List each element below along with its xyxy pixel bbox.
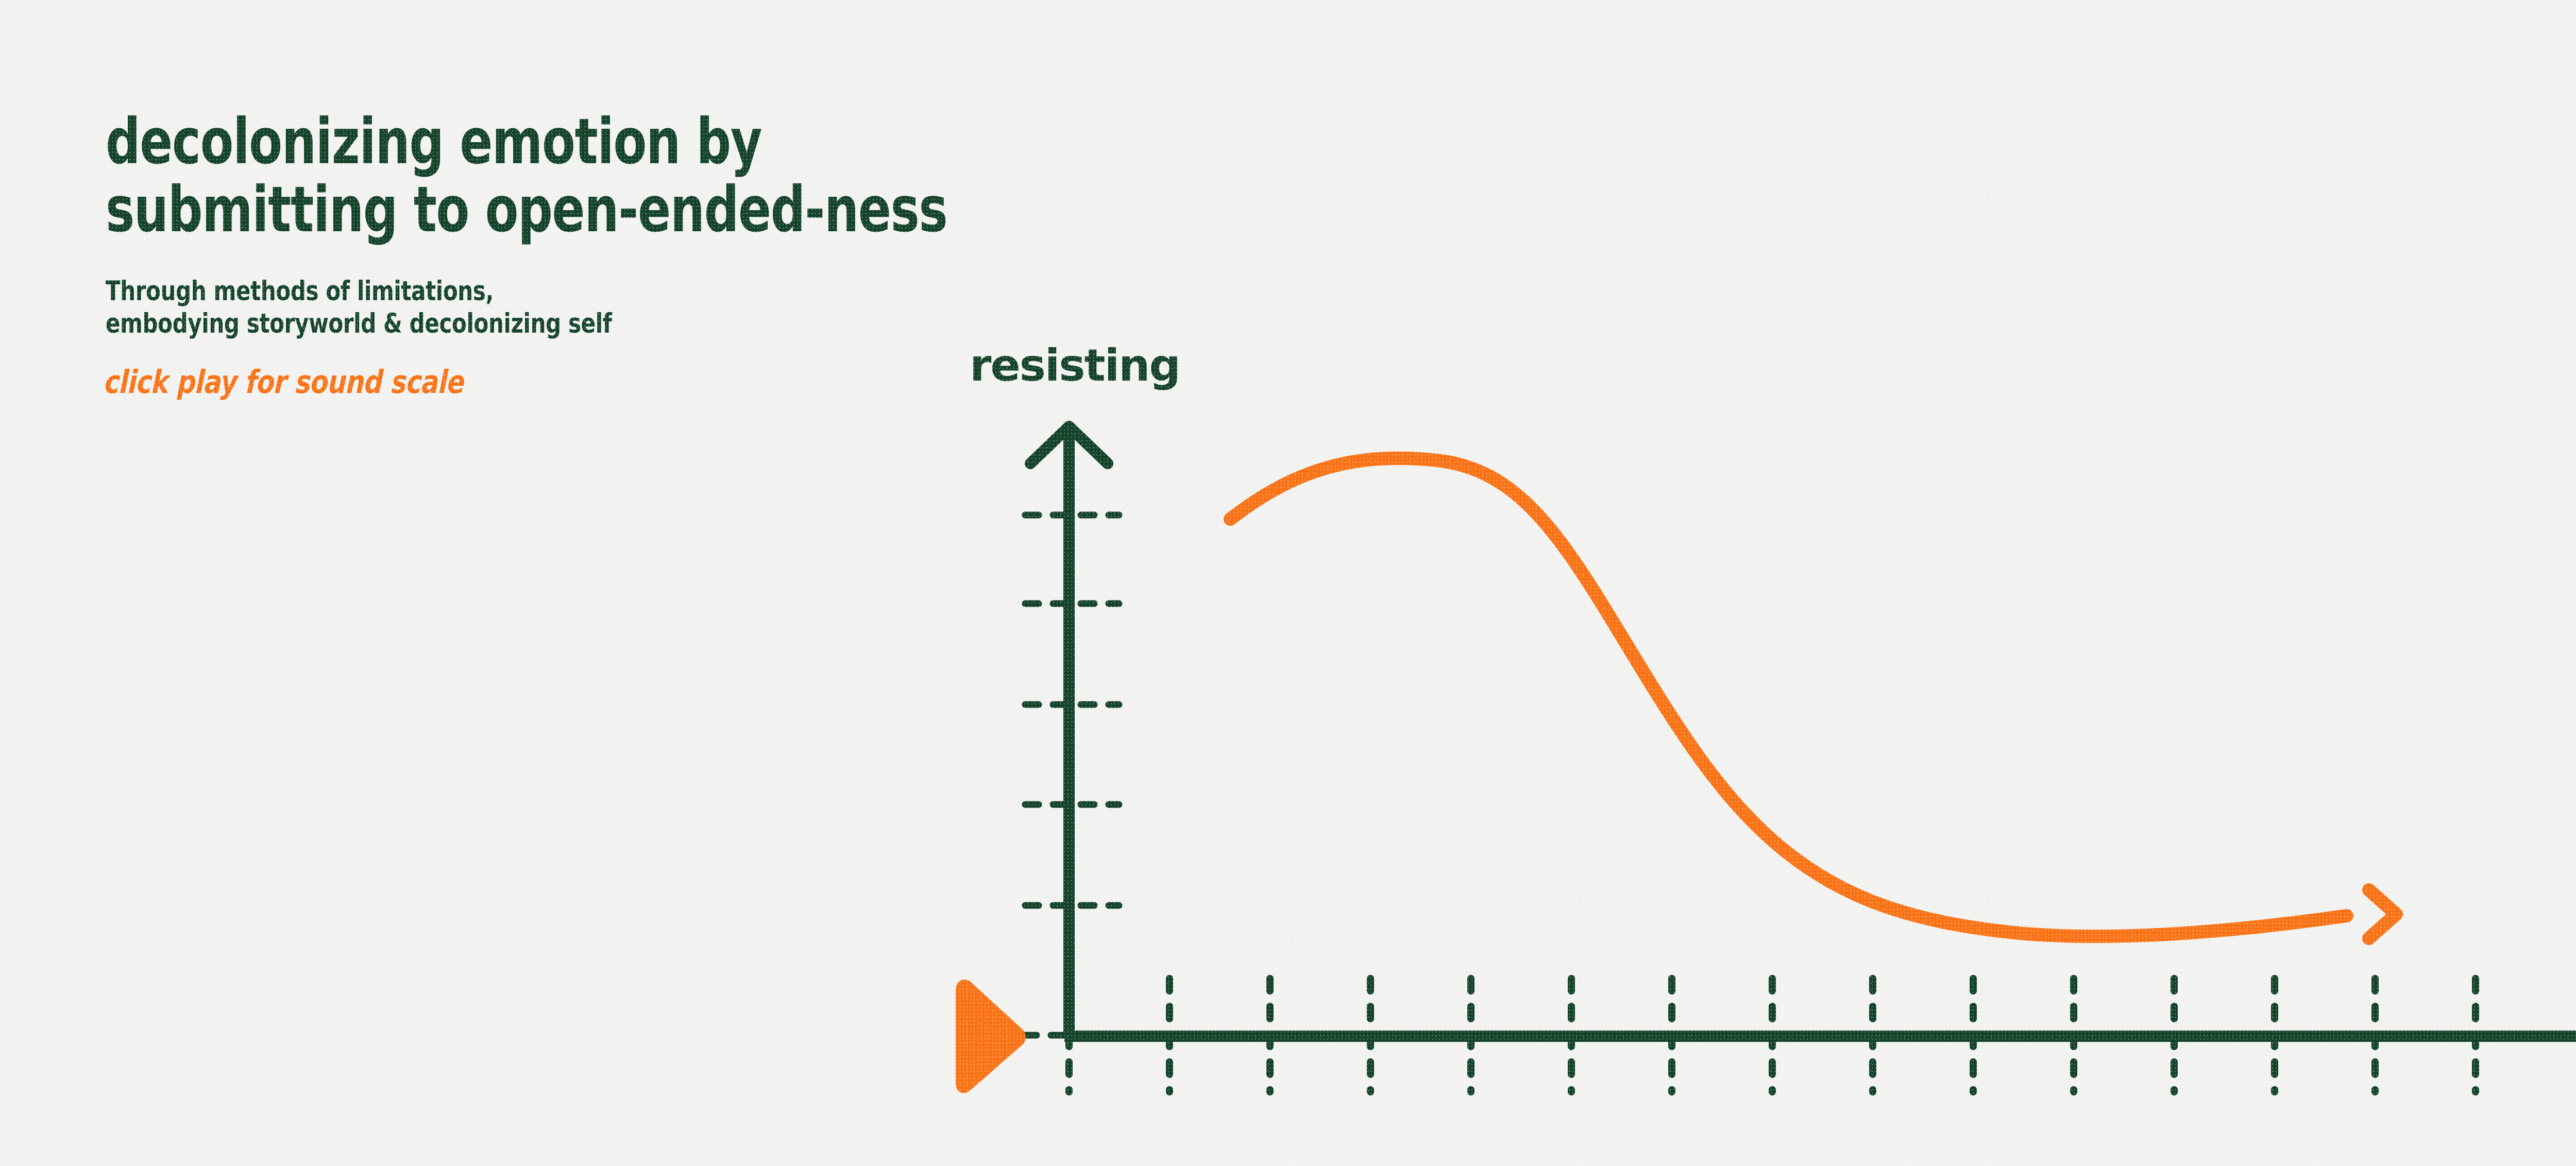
emotion-curve xyxy=(1230,458,2347,936)
x-axis xyxy=(1064,996,2576,1076)
page-subtitle-line-1: Through methods of limitations, xyxy=(106,276,967,307)
y-axis-tick-group xyxy=(995,515,1119,1035)
y-axis xyxy=(1030,426,1108,1036)
header-text-block: decolonizing emotion by submitting to op… xyxy=(106,108,1084,398)
play-button-icon[interactable] xyxy=(961,985,1020,1087)
play-call-to-action[interactable]: click play for sound scale xyxy=(104,366,986,398)
emotion-curve-arrowhead xyxy=(2369,890,2396,938)
page-subtitle-line-2: embodying storyworld & decolonizing self xyxy=(106,308,967,339)
page-title-line-2: submitting to open-ended-ness xyxy=(106,176,947,244)
page-title-line-1: decolonizing emotion by xyxy=(106,108,947,176)
y-axis-label: resisting xyxy=(970,340,1180,391)
